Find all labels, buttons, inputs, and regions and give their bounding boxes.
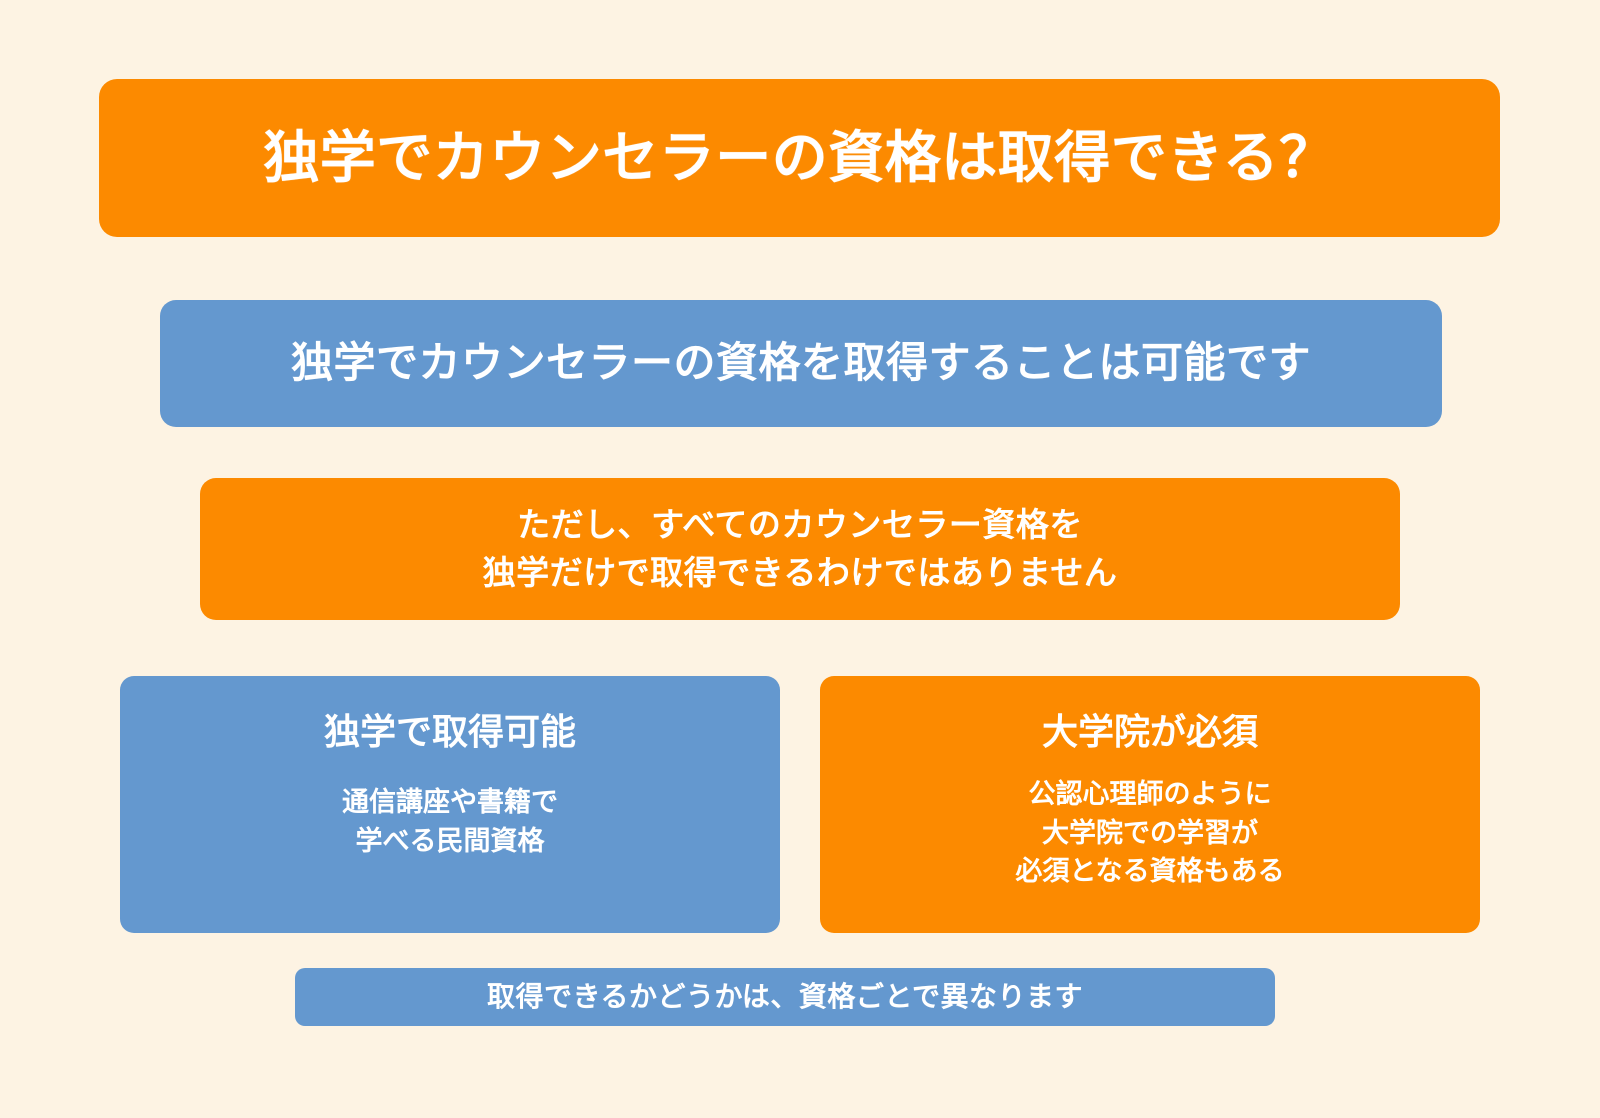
card-grad-school-body-line-2: 大学院での学習が <box>1015 814 1284 852</box>
statement-caveat-line-2: 独学だけで取得できるわけではありません <box>483 549 1118 597</box>
conclusion-banner: 取得できるかどうかは、資格ごとで異なります <box>295 968 1275 1026</box>
statement-caveat-banner: ただし、すべてのカウンセラー資格を 独学だけで取得できるわけではありません <box>200 478 1400 620</box>
card-self-study-body-line-2: 学べる民間資格 <box>342 822 558 860</box>
card-self-study-body: 通信講座や書籍で 学べる民間資格 <box>342 783 558 860</box>
title-banner: 独学でカウンセラーの資格は取得できる？ <box>99 79 1500 237</box>
card-grad-school-heading: 大学院が必須 <box>1042 710 1258 753</box>
statement-primary-banner: 独学でカウンセラーの資格を取得することは可能です <box>160 300 1442 427</box>
card-self-study-heading: 独学で取得可能 <box>324 710 576 753</box>
statement-caveat-line-1: ただし、すべてのカウンセラー資格を <box>517 501 1083 549</box>
card-self-study: 独学で取得可能 通信講座や書籍で 学べる民間資格 <box>120 676 780 933</box>
statement-primary-text: 独学でカウンセラーの資格を取得することは可能です <box>291 337 1311 390</box>
conclusion-text: 取得できるかどうかは、資格ごとで異なります <box>487 980 1083 1014</box>
card-grad-school-body-line-3: 必須となる資格もある <box>1015 852 1284 890</box>
card-grad-school: 大学院が必須 公認心理師のように 大学院での学習が 必須となる資格もある <box>820 676 1480 933</box>
card-self-study-body-line-1: 通信講座や書籍で <box>342 783 558 821</box>
infographic-canvas: 独学でカウンセラーの資格は取得できる？ 独学でカウンセラーの資格を取得することは… <box>0 0 1600 1118</box>
card-grad-school-body: 公認心理師のように 大学院での学習が 必須となる資格もある <box>1015 775 1284 890</box>
card-grad-school-body-line-1: 公認心理師のように <box>1015 775 1284 813</box>
page-title: 独学でカウンセラーの資格は取得できる？ <box>263 124 1335 191</box>
